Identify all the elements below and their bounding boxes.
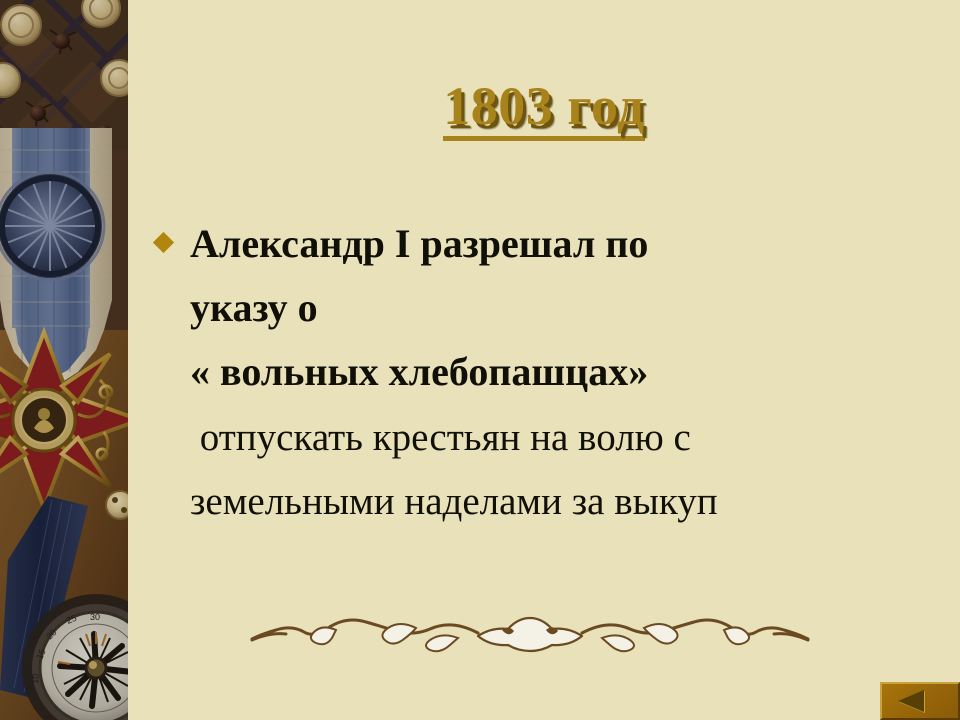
slide-title: 1803 год bbox=[128, 78, 960, 141]
triangle-left-icon bbox=[898, 690, 924, 712]
diamond-bullet-icon bbox=[153, 232, 174, 253]
paragraph-line: Александр I разрешал по bbox=[190, 212, 940, 276]
slide-canvas: * * * 15 20 25 bbox=[0, 0, 960, 720]
paragraph-line: земельными наделами за выкуп bbox=[190, 470, 940, 534]
bulleted-paragraph: Александр I разрешал по указу о « вольны… bbox=[150, 212, 940, 404]
continuation-paragraph: отпускать крестьян на волю с земельными … bbox=[150, 406, 940, 534]
paragraph-line: « вольных хлебопашцах» bbox=[190, 340, 940, 404]
page-title: 1803 год bbox=[443, 78, 644, 141]
back-button[interactable] bbox=[880, 682, 960, 720]
decorative-medals-photo: * * * 15 20 25 bbox=[0, 0, 128, 720]
flourish-divider-ornament bbox=[240, 600, 820, 656]
slide-body: Александр I разрешал по указу о « вольны… bbox=[150, 212, 940, 534]
paragraph-line: отпускать крестьян на волю с bbox=[190, 406, 940, 470]
paragraph-line: указу о bbox=[190, 276, 940, 340]
